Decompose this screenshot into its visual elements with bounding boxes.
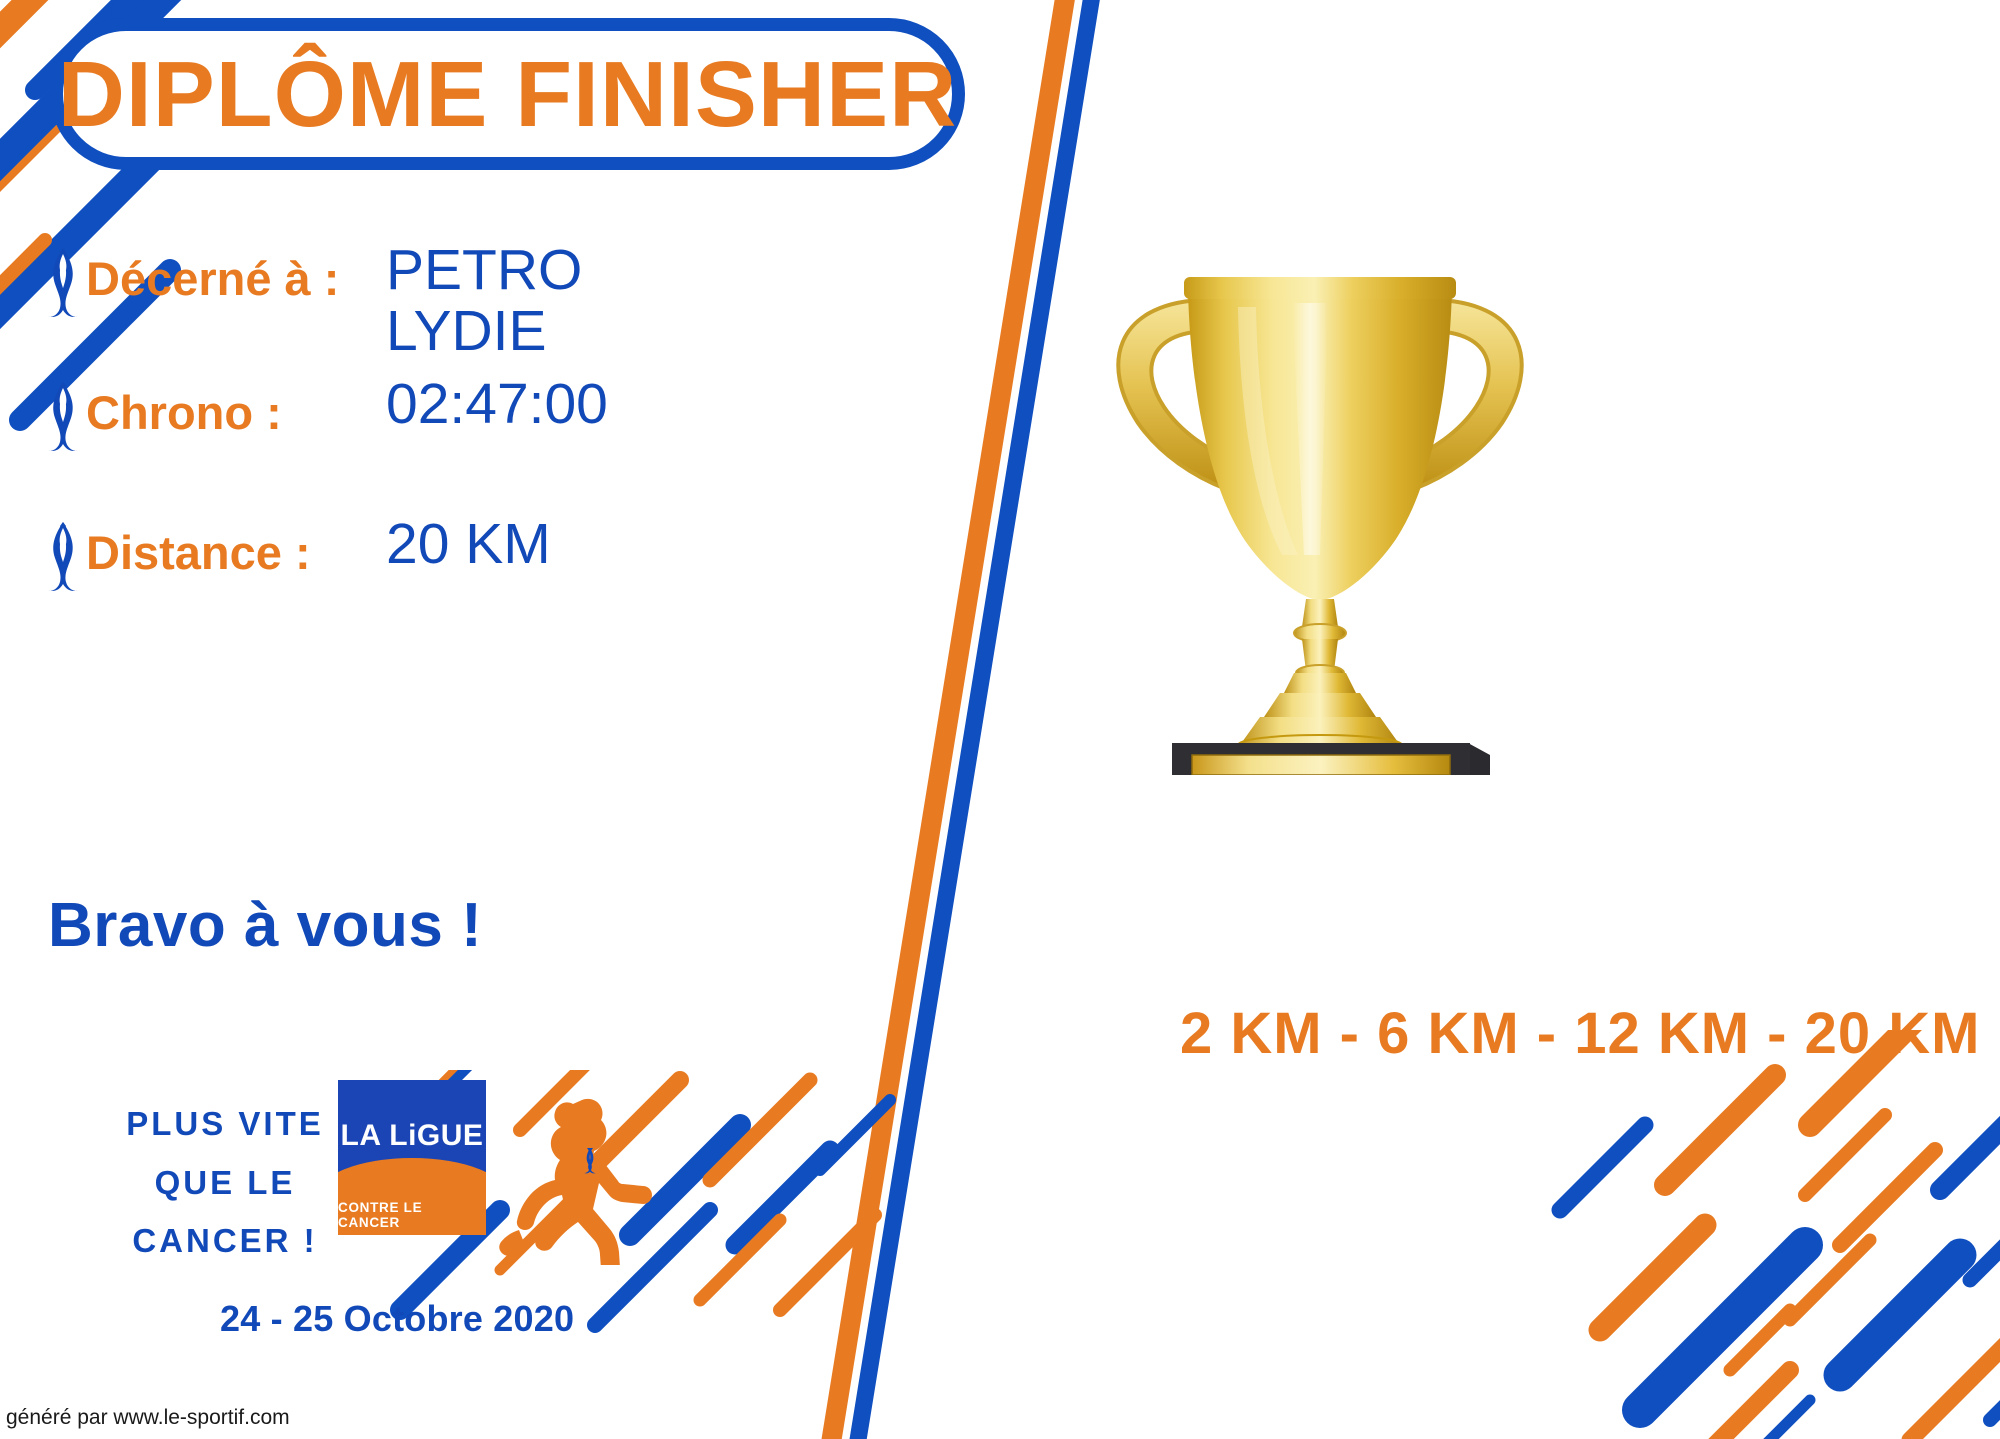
detail-row-awarded-to: Décerné à : PETRO LYDIE: [40, 240, 900, 362]
running-woman-icon: [495, 1090, 685, 1265]
ligue-brand-name: LA LiGUE: [341, 1119, 484, 1153]
ribbon-icon: [40, 380, 86, 454]
page-title: DIPLÔME FINISHER: [58, 48, 958, 141]
generator-credit: généré par www.le-sportif.com: [6, 1406, 290, 1430]
ligue-logo-bottom: CONTRE LE CANCER: [338, 1195, 486, 1235]
label-awarded-to: Décerné à :: [86, 240, 386, 303]
sponsor-logo-block: PLUS VITE QUE LE CANCER ! LA LiGUE CONTR…: [80, 1080, 900, 1400]
detail-row-distance: Distance : 20 KM: [40, 514, 900, 594]
stripes-svg-bottom-right: [1540, 1030, 2000, 1439]
trophy-icon: [1060, 255, 1580, 775]
value-participant-name: PETRO LYDIE: [386, 240, 582, 362]
event-date: 24 - 25 Octobre 2020: [220, 1298, 574, 1340]
detail-row-chrono: Chrono : 02:47:00: [40, 374, 900, 454]
ligue-logo: LA LiGUE CONTRE LE CANCER: [338, 1080, 486, 1235]
details-block: Décerné à : PETRO LYDIE Chrono : 02:47:0…: [40, 240, 900, 594]
label-distance: Distance :: [86, 514, 386, 577]
value-distance: 20 KM: [386, 514, 551, 575]
distances-list: 2 KM - 6 KM - 12 KM - 20 KM: [1180, 1000, 1980, 1067]
diploma-page: DIPLÔME FINISHER Décerné à : PETRO LYDIE: [0, 0, 2000, 1439]
ligue-brand-subtitle: CONTRE LE CANCER: [338, 1200, 486, 1230]
slogan-text: PLUS VITE QUE LE CANCER !: [90, 1095, 360, 1271]
title-plaque: DIPLÔME FINISHER: [50, 18, 965, 170]
decoration-stripes-bottom-right: [1540, 1030, 2000, 1439]
congratulations-text: Bravo à vous !: [48, 890, 482, 961]
label-chrono: Chrono :: [86, 374, 386, 437]
ribbon-icon: [40, 520, 86, 594]
ribbon-icon: [40, 246, 86, 320]
value-chrono: 02:47:00: [386, 374, 608, 435]
